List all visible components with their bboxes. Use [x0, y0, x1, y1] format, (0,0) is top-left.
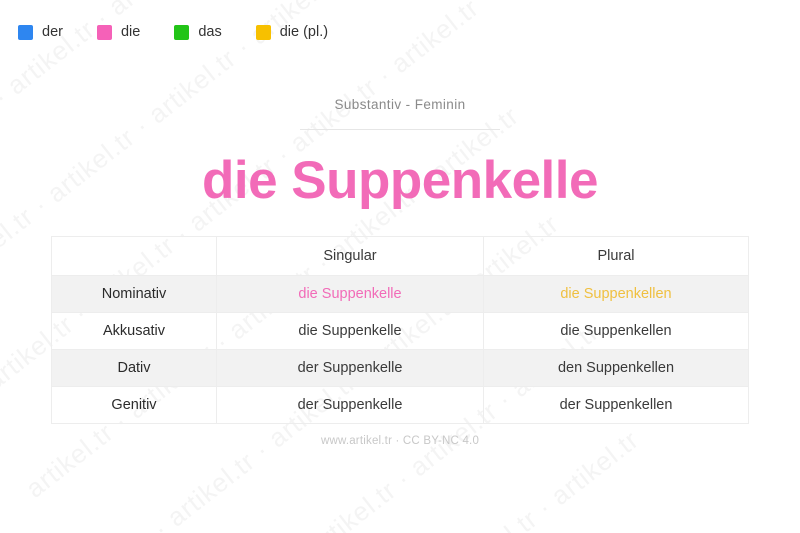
column-header-singular: Singular	[217, 236, 484, 275]
footer-attribution: www.artikel.tr · CC BY-NC 4.0	[0, 435, 800, 447]
cell-plural: die Suppenkellen	[484, 275, 749, 312]
legend-item-die[interactable]: die	[97, 25, 140, 40]
legend-item-label: das	[198, 25, 221, 40]
cell-singular: der Suppenkelle	[217, 386, 484, 423]
table-row: Nominativdie Suppenkelledie Suppenkellen	[52, 275, 749, 312]
color-swatch-icon	[256, 25, 271, 40]
cell-singular: der Suppenkelle	[217, 349, 484, 386]
cell-singular: die Suppenkelle	[217, 312, 484, 349]
cell-plural: den Suppenkellen	[484, 349, 749, 386]
table-row: Genitivder Suppenkelleder Suppenkellen	[52, 386, 749, 423]
cell-case-akkusativ: Akkusativ	[52, 312, 217, 349]
header-block: Substantiv - Feminin die Suppenkelle	[0, 98, 800, 210]
subtitle-divider	[300, 129, 500, 130]
declension-table: Singular Plural Nominativdie Suppenkelle…	[51, 236, 749, 424]
table-header: Singular Plural	[52, 236, 749, 275]
legend-item-das[interactable]: das	[174, 25, 221, 40]
color-swatch-icon	[174, 25, 189, 40]
cell-case-genitiv: Genitiv	[52, 386, 217, 423]
legend-item-diepl[interactable]: die (pl.)	[256, 25, 328, 40]
article-color-legend: derdiedasdie (pl.)	[0, 0, 800, 46]
page-title: die Suppenkelle	[0, 152, 800, 210]
legend-item-label: die (pl.)	[280, 25, 328, 40]
declension-card: derdiedasdie (pl.) Substantiv - Feminin …	[0, 0, 800, 533]
table-body: Nominativdie Suppenkelledie Suppenkellen…	[52, 275, 749, 423]
table-row: Akkusativdie Suppenkelledie Suppenkellen	[52, 312, 749, 349]
table-header-row: Singular Plural	[52, 236, 749, 275]
word-category-subtitle: Substantiv - Feminin	[0, 98, 800, 112]
cell-case-nominativ: Nominativ	[52, 275, 217, 312]
legend-item-label: der	[42, 25, 63, 40]
cell-singular: die Suppenkelle	[217, 275, 484, 312]
cell-case-dativ: Dativ	[52, 349, 217, 386]
column-header-case	[52, 236, 217, 275]
cell-plural: der Suppenkellen	[484, 386, 749, 423]
color-swatch-icon	[18, 25, 33, 40]
color-swatch-icon	[97, 25, 112, 40]
cell-plural: die Suppenkellen	[484, 312, 749, 349]
table-row: Dativder Suppenkelleden Suppenkellen	[52, 349, 749, 386]
column-header-plural: Plural	[484, 236, 749, 275]
legend-item-der[interactable]: der	[18, 25, 63, 40]
legend-item-label: die	[121, 25, 140, 40]
